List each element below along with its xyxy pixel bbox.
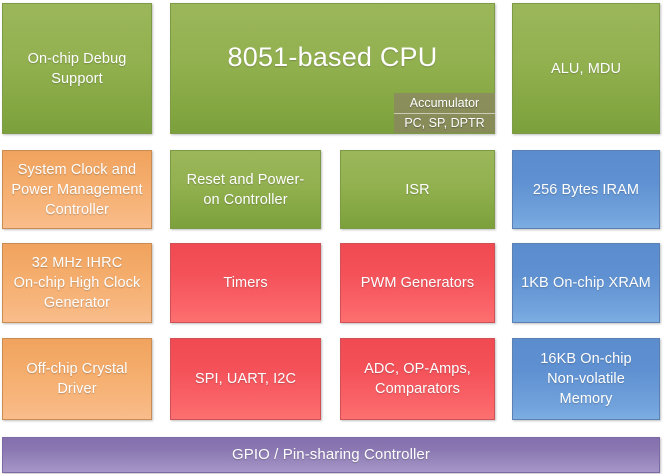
block-label: 8051-based CPU — [178, 39, 487, 98]
block-system-clock-power-management-controller[interactable]: System Clock and Power Management Contro… — [2, 150, 152, 229]
block-label: Timers — [178, 273, 313, 293]
block-on-chip-debug-support[interactable]: On-chip Debug Support — [2, 3, 152, 134]
block-isr[interactable]: ISR — [340, 150, 495, 229]
block-pwm-generators[interactable]: PWM Generators — [340, 243, 495, 323]
block-timers[interactable]: Timers — [170, 243, 321, 323]
cpu-register-pc-sp-dptr: PC, SP, DPTR — [394, 114, 495, 134]
block-label: System Clock and Power Management Contro… — [10, 160, 144, 220]
block-label: 16KB On-chip Non-volatile Memory — [520, 349, 652, 409]
block-1kb-on-chip-xram[interactable]: 1KB On-chip XRAM — [512, 243, 660, 323]
block-adc-opamps-comparators[interactable]: ADC, OP-Amps, Comparators — [340, 338, 495, 420]
block-label: 1KB On-chip XRAM — [520, 273, 652, 293]
block-label: ISR — [348, 180, 487, 200]
block-gpio-pin-sharing-controller[interactable]: GPIO / Pin-sharing Controller — [2, 437, 660, 473]
block-label: ALU, MDU — [520, 59, 652, 79]
block-label: 256 Bytes IRAM — [520, 180, 652, 200]
block-alu-mdu[interactable]: ALU, MDU — [512, 3, 660, 134]
block-label: SPI, UART, I2C — [178, 369, 313, 389]
block-16kb-on-chip-non-volatile-memory[interactable]: 16KB On-chip Non-volatile Memory — [512, 338, 660, 420]
block-label: ADC, OP-Amps, Comparators — [348, 359, 487, 399]
block-label: 32 MHz IHRC On-chip High Clock Generator — [10, 253, 144, 313]
block-off-chip-crystal-driver[interactable]: Off-chip Crystal Driver — [2, 338, 152, 420]
block-label: Off-chip Crystal Driver — [10, 359, 144, 399]
block-diagram: On-chip Debug Support 8051-based CPU Acc… — [0, 0, 663, 474]
block-spi-uart-i2c[interactable]: SPI, UART, I2C — [170, 338, 321, 420]
block-label: PWM Generators — [348, 273, 487, 293]
block-label: GPIO / Pin-sharing Controller — [10, 445, 652, 466]
block-reset-power-on-controller[interactable]: Reset and Power- on Controller — [170, 150, 321, 229]
cpu-register-accumulator: Accumulator — [394, 93, 495, 114]
block-ihrc-clock-generator[interactable]: 32 MHz IHRC On-chip High Clock Generator — [2, 243, 152, 323]
cpu-registers-overlay[interactable]: Accumulator PC, SP, DPTR — [394, 93, 495, 133]
block-label: On-chip Debug Support — [10, 49, 144, 89]
block-label: Reset and Power- on Controller — [178, 170, 313, 210]
block-256-bytes-iram[interactable]: 256 Bytes IRAM — [512, 150, 660, 229]
